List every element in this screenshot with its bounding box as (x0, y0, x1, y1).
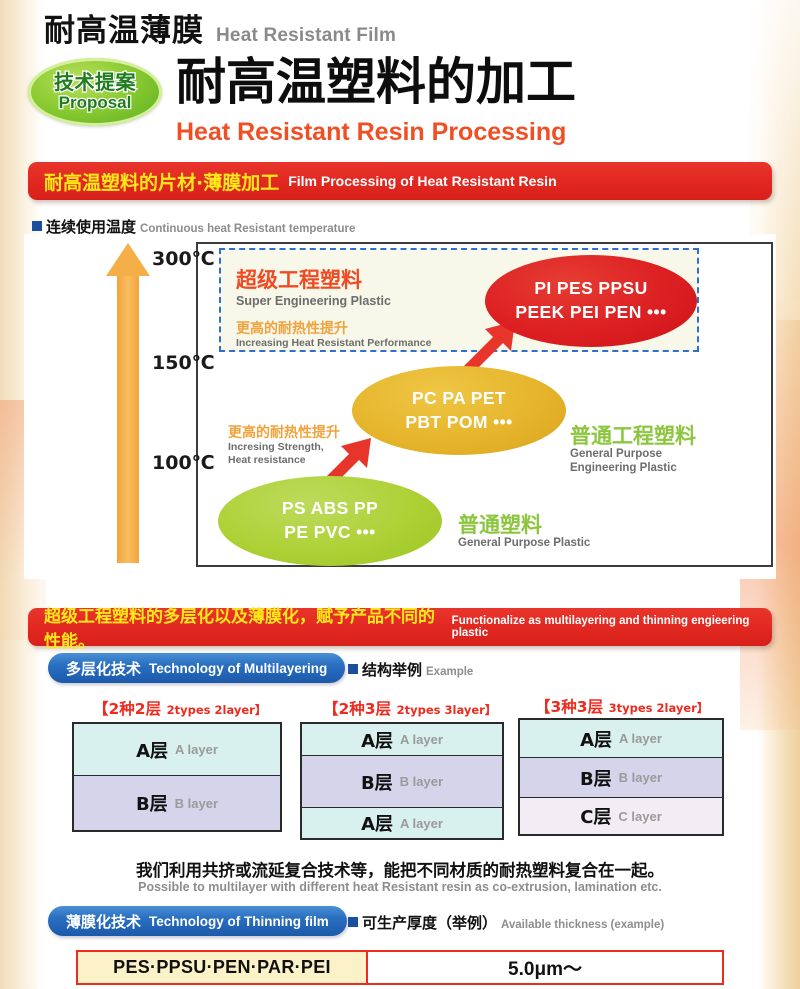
legend-general-en: General Purpose Plastic (458, 536, 590, 550)
group-general-engineering-plastic: PC PA PET PBT POM ••• (352, 366, 566, 455)
layer-item: C层 C layer (520, 798, 722, 834)
header-kicker-cn: 耐高温薄膜 (44, 16, 204, 47)
pill-technology-of-multilayering[interactable]: 多层化技术 Technology of Multilayering (48, 653, 345, 683)
layer-item: A层 A layer (520, 720, 722, 758)
layer-cn: B层 (136, 790, 168, 816)
layer-stack-2: A层 A layer B层 B layer A层 A layer (300, 722, 504, 840)
banner1-en: Film Processing of Heat Resistant Resin (288, 173, 556, 189)
label-structure-example: 结构举例 Example (348, 659, 473, 680)
header-kicker: 耐高温薄膜 Heat Resistant Film (44, 16, 396, 47)
super-engineering-note-en: Increasing Heat Resistant Performance (236, 337, 432, 349)
label-available-thickness: 可生产厚度（举例） Available thickness (example) (348, 912, 664, 933)
proposal-badge-en: Proposal (59, 94, 132, 112)
legend-general-cn: 普通塑料 (458, 509, 542, 539)
axis-tick-150: 150℃ (152, 352, 215, 374)
pill2-en: Technology of Thinning film (149, 914, 329, 929)
pill-technology-of-thinning-film[interactable]: 薄膜化技术 Technology of Thinning film (48, 906, 347, 936)
layer-cn: A层 (136, 737, 168, 763)
layer-column-title-3: 【3种3层 3types 2layer】 (535, 695, 708, 717)
blue-square-bullet-icon (348, 664, 358, 674)
layer-item: A层 A layer (302, 808, 502, 838)
layer-cn: A层 (361, 810, 393, 836)
thickness-table: PES·PPSU·PEN·PAR·PEI 5.0μm～ (76, 950, 724, 985)
page-content: 耐高温薄膜 Heat Resistant Film 技术提案 Proposal … (0, 0, 800, 989)
layer-en: A layer (400, 816, 443, 831)
legend-engineering-cn: 普通工程塑料 (570, 420, 696, 450)
axis-tick-100: 100℃ (152, 452, 215, 474)
group-super-line1: PI PES PPSU (534, 277, 647, 301)
layer-item: B层 B layer (520, 758, 722, 798)
mid-annotation-en-line1: Incresing Strength, (228, 441, 324, 453)
layer-en: A layer (400, 732, 443, 747)
page-title-cn: 耐高温塑料的加工 (176, 56, 576, 109)
thickness-value-cell: 5.0μm～ (368, 952, 722, 983)
multilayer-caption-en: Possible to multilayer with different he… (138, 880, 662, 894)
layer-en: A layer (175, 742, 218, 757)
layer-cn: B层 (580, 765, 612, 791)
banner2-en: Functionalize as multilayering and thinn… (452, 615, 756, 639)
layer-stack-1: A层 A layer B层 B layer (72, 722, 282, 832)
label-example-cn: 结构举例 (362, 659, 422, 680)
layer-cn: B层 (361, 769, 393, 795)
multilayer-caption-cn: 我们利用共挤或流延复合技术等，能把不同材质的耐热塑料复合在一起。 (136, 857, 664, 881)
layer-cn: A层 (580, 726, 612, 752)
layer-cn: C层 (580, 803, 611, 829)
pill1-cn: 多层化技术 (66, 658, 141, 679)
label-example-en: Example (426, 666, 473, 678)
section-banner-film-processing: 耐高温塑料的片材·薄膜加工 Film Processing of Heat Re… (28, 162, 772, 200)
group-general-purpose-plastic: PS ABS PP PE PVC ••• (218, 476, 442, 566)
label-thickness-cn: 可生产厚度（举例） (362, 912, 497, 933)
pill2-cn: 薄膜化技术 (66, 911, 141, 932)
layer-item: A层 A layer (74, 724, 280, 776)
super-engineering-title-cn: 超级工程塑料 (236, 264, 362, 294)
section-banner-multilayering: 超级工程塑料的多层化以及薄膜化，赋予产品不同的性能。 Functionalize… (28, 608, 772, 646)
layer-column-title-2-cn: 【2种3层 (323, 700, 391, 718)
super-engineering-title-en: Super Engineering Plastic (236, 294, 391, 308)
layer-en: B layer (175, 796, 218, 811)
proposal-badge: 技术提案 Proposal (28, 58, 162, 126)
label-thickness-en: Available thickness (example) (501, 919, 664, 931)
mid-annotation-en-line2: Heat resistance (228, 454, 306, 466)
group-engineering-line2: PBT POM ••• (405, 411, 512, 435)
layer-column-title-1-en: 2types 2layer】 (167, 703, 267, 717)
layer-column-title-1-cn: 【2种2层 (93, 700, 161, 718)
layer-en: B layer (619, 770, 662, 785)
layer-en: B layer (400, 774, 443, 789)
proposal-badge-cn: 技术提案 (54, 72, 136, 93)
layer-stack-3: A层 A layer B层 B layer C层 C layer (518, 718, 724, 836)
axis-tick-300: 300℃ (152, 248, 215, 270)
layer-en: C layer (618, 809, 661, 824)
group-engineering-line1: PC PA PET (412, 387, 506, 411)
banner1-cn: 耐高温塑料的片材·薄膜加工 (44, 168, 279, 195)
layer-column-title-3-cn: 【3种3层 (535, 698, 603, 716)
layer-item: B层 B layer (74, 776, 280, 830)
layer-column-title-3-en: 3types 2layer】 (609, 701, 709, 715)
group-general-line2: PE PVC ••• (284, 521, 375, 545)
layer-en: A layer (619, 731, 662, 746)
group-super-engineering-plastic: PI PES PPSU PEEK PEI PEN ••• (485, 255, 697, 347)
group-general-line1: PS ABS PP (282, 497, 378, 521)
layer-column-title-2-en: 2types 3layer】 (397, 703, 497, 717)
layer-item: A层 A layer (302, 724, 502, 756)
layer-column-title-2: 【2种3层 2types 3layer】 (323, 697, 496, 719)
legend-engineering-en: General PurposeEngineering Plastic (570, 447, 677, 476)
pill1-en: Technology of Multilayering (149, 661, 327, 676)
layer-item: B层 B layer (302, 756, 502, 808)
layer-cn: A层 (361, 727, 393, 753)
blue-square-bullet-icon (32, 221, 42, 231)
banner2-cn: 超级工程塑料的多层化以及薄膜化，赋予产品不同的性能。 (44, 602, 443, 652)
page-title-en: Heat Resistant Resin Processing (176, 118, 566, 147)
header-kicker-en: Heat Resistant Film (216, 26, 396, 47)
super-engineering-note-cn: 更高的耐热性提升 (236, 318, 348, 338)
temperature-axis-arrow-icon (106, 243, 150, 563)
group-super-line2: PEEK PEI PEN ••• (515, 301, 666, 325)
blue-square-bullet-icon (348, 917, 358, 927)
thickness-materials-cell: PES·PPSU·PEN·PAR·PEI (78, 952, 368, 983)
layer-column-title-1: 【2种2层 2types 2layer】 (93, 697, 266, 719)
